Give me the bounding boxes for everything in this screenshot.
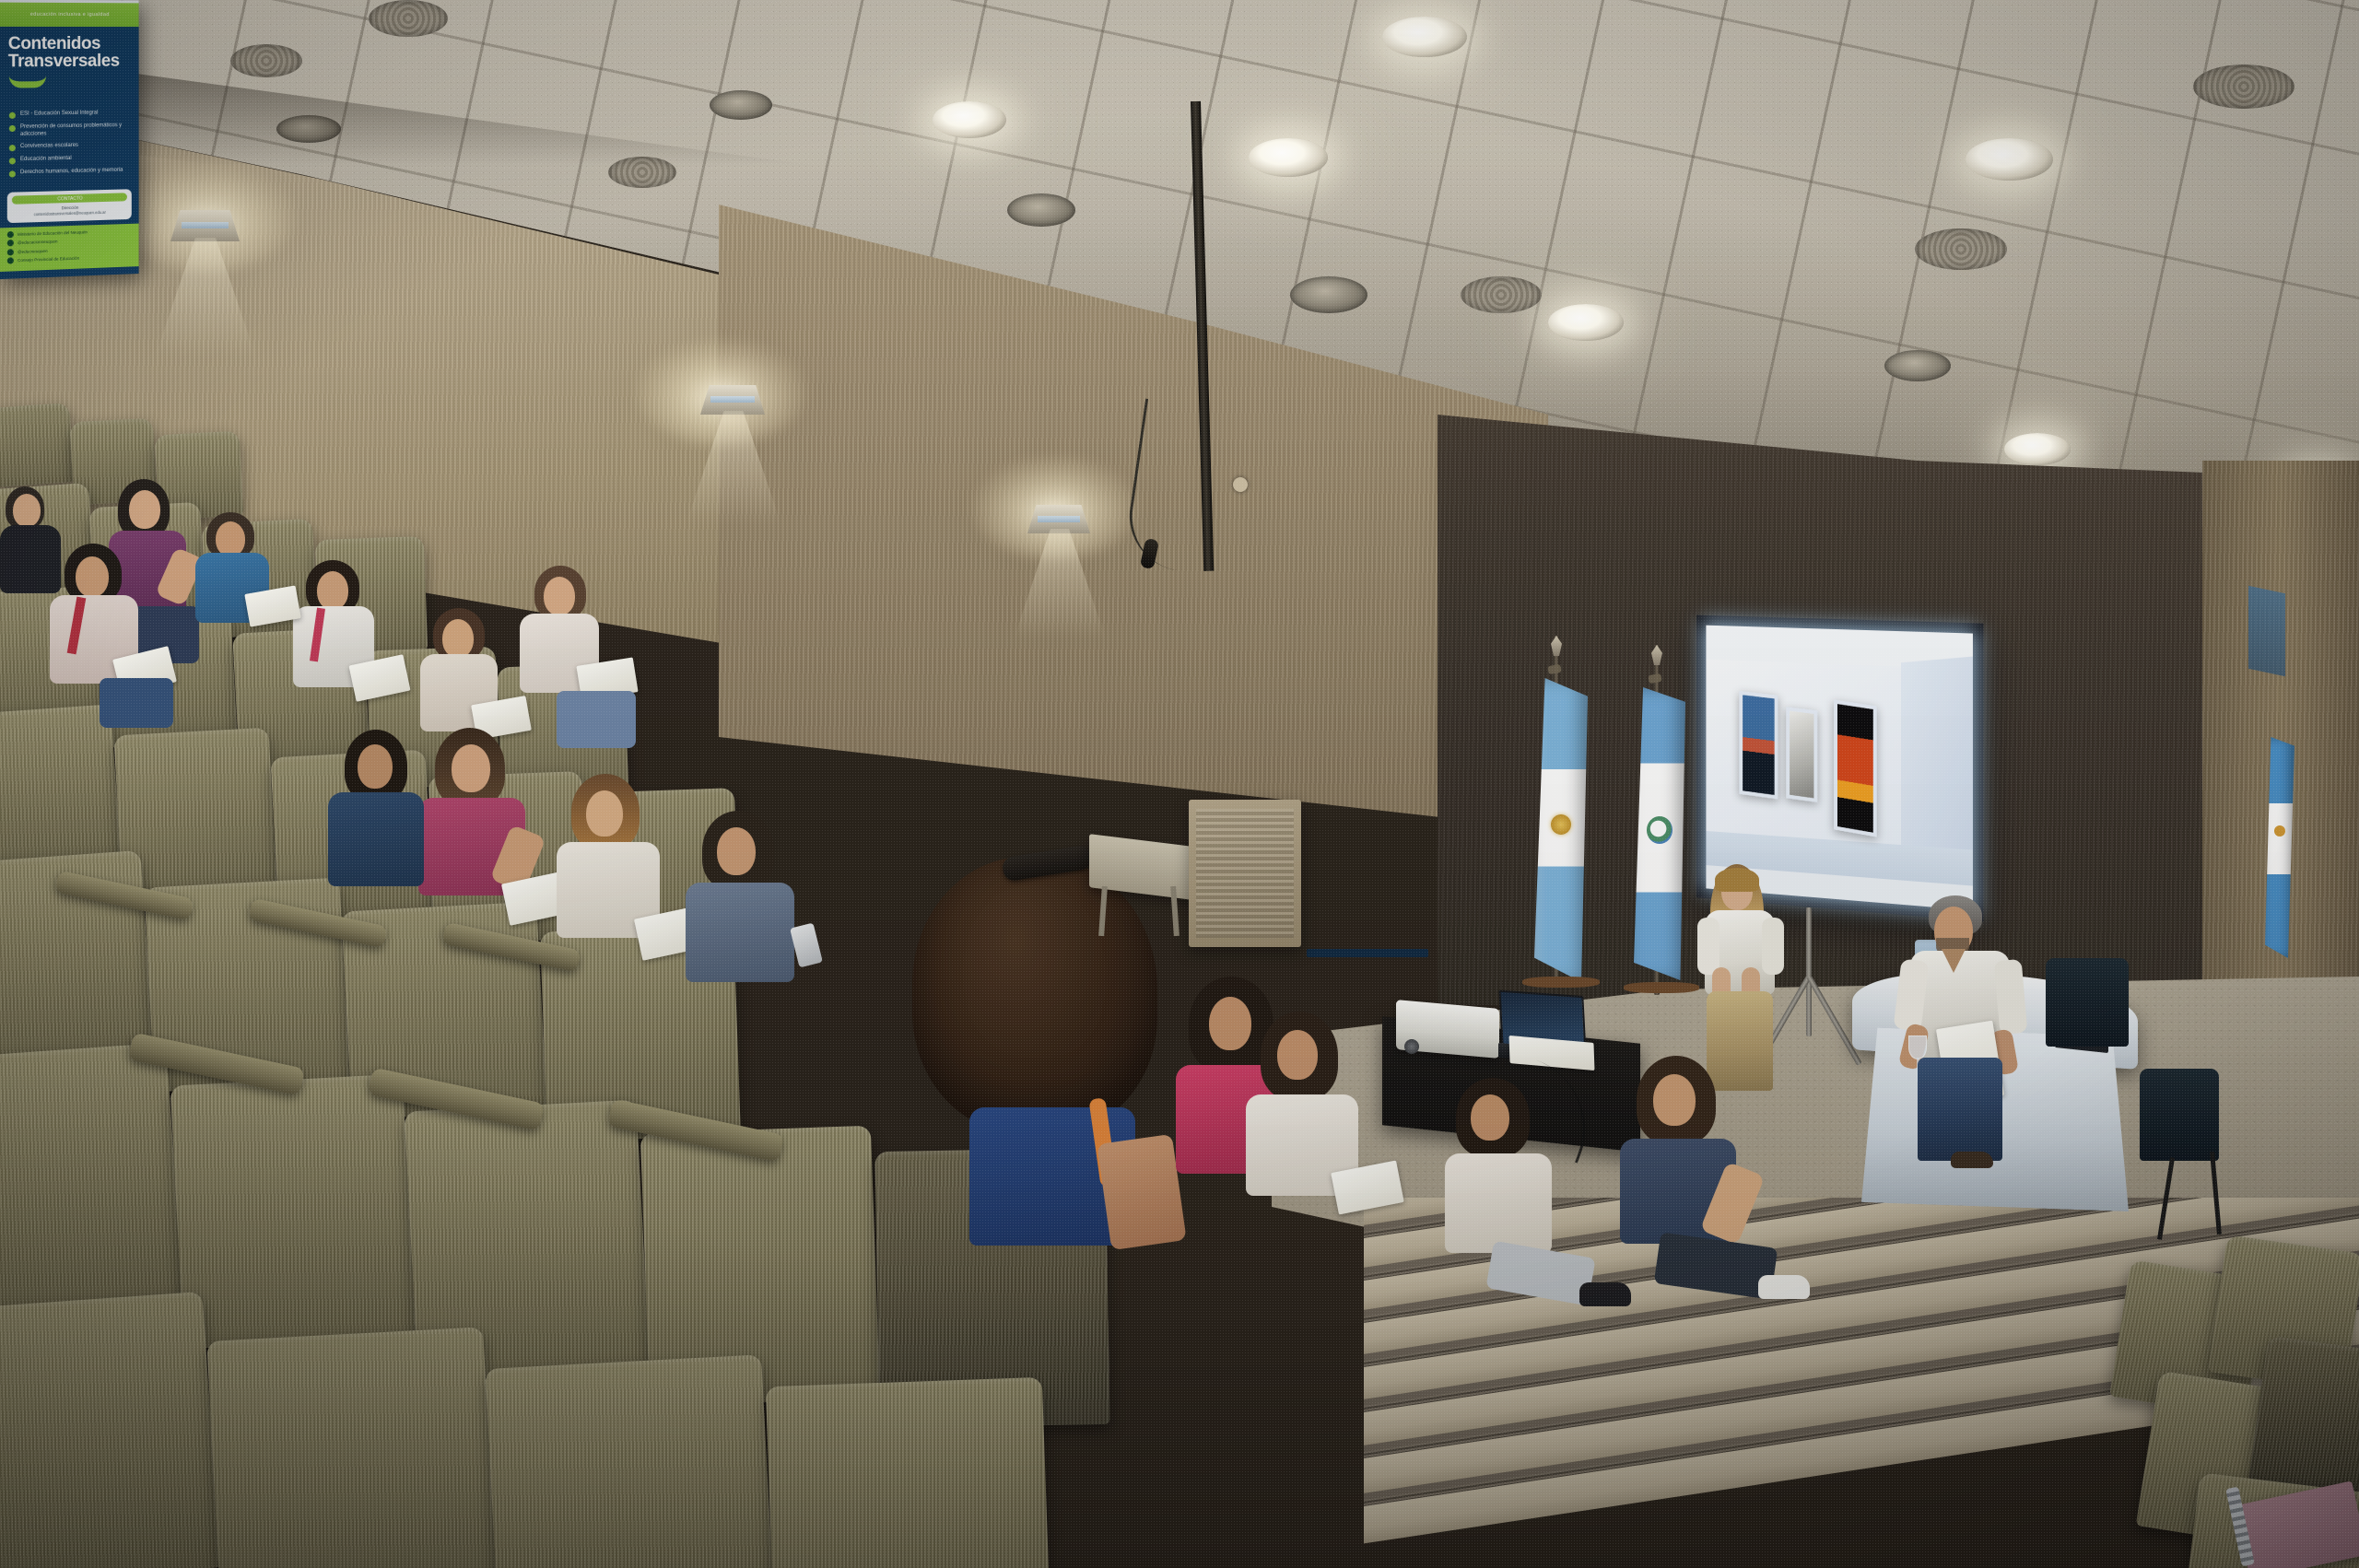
bullet-dot-icon [9,145,16,151]
office-chair-secondary [2140,1069,2219,1161]
auditorium-seat [0,704,122,872]
attendee-head [544,577,575,615]
ceiling-downlight [1249,138,1328,177]
attendee [553,774,700,1004]
ceiling-downlight-off [1007,193,1075,227]
attendee [1620,1056,1795,1305]
auditorium-seat [766,1377,1051,1568]
auditorium-seat [485,1354,775,1568]
cable-clip [1233,477,1248,492]
social-icon [7,257,14,263]
attendee-head [1471,1094,1509,1141]
auditorium-seat [206,1327,497,1568]
banner-bullet-item: Educación ambiental [9,155,131,165]
social-icon [7,249,14,255]
bullet-dot-icon [9,112,16,119]
ceiling-air-vent [2193,64,2294,109]
banner-social-text: @educneuquen [18,248,48,253]
banner-social-item: Consejo Provincial de Educación [7,253,132,264]
attendee-phone[interactable] [790,923,823,968]
auditorium-seat [170,1074,417,1350]
attendee-top [686,883,794,982]
attendee-head [442,619,474,658]
presenter-arm-right [1762,918,1784,975]
banner-bullet-item: Convivencias escolares [9,142,131,152]
attendee-hair-curly [912,857,1157,1133]
banner-header-text: educación inclusiva e igualdad [30,12,110,18]
argentina-sun-icon [1551,814,1571,835]
attendee-top [328,792,424,886]
flag-pole-base [1522,977,1600,988]
attendee-top [1445,1153,1552,1253]
attendee-head [358,744,393,789]
banner-social-text: Ministerio de Educación del Neuquén [18,229,88,237]
banner-bullet-item: Prevención de consumos problemáticos y a… [9,123,131,138]
slide-photo-landscape [1739,691,1778,800]
attendee [192,512,302,660]
attendee-shoe [1758,1275,1810,1299]
attendee-head [452,744,490,792]
auditorium-seat-right-block [2248,1336,2359,1503]
ceiling-downlight-off [710,90,772,120]
social-icon [7,240,14,246]
ceiling-downlight [1548,304,1624,341]
attendee-shoe [1579,1282,1631,1306]
banner-bullet-text: ESI - Educación Sexual Integral [20,111,98,119]
auditorium-seat [0,1043,183,1316]
bullet-dot-icon [9,171,16,178]
ceiling-downlight [933,101,1006,138]
ceiling-downlight [1966,138,2053,181]
auditorium-seat [0,1292,221,1568]
banner-social-text: @educacionneuquen [18,239,58,245]
social-icon [7,231,14,238]
banner-swoosh-icon [9,76,46,88]
banner-social-list: Ministerio de Educación del Neuquén @edu… [0,223,139,271]
banner-bullet-item: Derechos humanos, educación y memoria [9,168,131,178]
bullet-dot-icon [9,158,16,164]
attendee-head [76,556,109,597]
attendee-head [1277,1030,1318,1080]
wall-cabinet-panel [1196,809,1294,938]
ceiling-downlight-off [1290,276,1367,313]
attendee-head [129,490,160,529]
ceiling-air-vent [369,0,448,37]
attendee-foreground-curly [894,848,1198,1244]
banner-bullet-text: Prevención de consumos problemáticos y a… [20,123,131,138]
attendee-leg [100,678,173,728]
banner-bullet-item: ESI - Educación Sexual Integral [9,110,131,119]
ceiling-downlight [1382,17,1467,57]
office-chair [2046,958,2129,1047]
attendee [682,811,839,1041]
banner-social-text: Consejo Provincial de Educación [18,256,79,263]
man-presenter [1894,895,2032,1163]
presenter-arm-left [1697,918,1719,975]
attendee [1445,1078,1611,1308]
ceiling-air-vent [230,44,302,77]
presenter-hair-front [1715,868,1759,892]
presenter-jeans [1918,1058,2002,1161]
attendee [293,560,413,735]
auditorium-scene: educación inclusiva e igualdad Contenido… [0,0,2359,1568]
banner-contact-card: CONTACTO Dirección contenidostransversal… [7,189,132,222]
banner-bullet-text: Convivencias escolares [20,143,78,151]
rollup-banner: educación inclusiva e igualdad Contenido… [0,0,139,279]
attendee [44,544,173,728]
banner-contact-pill: CONTACTO [12,193,127,205]
banner-header-strip: educación inclusiva e igualdad [0,3,139,27]
ceiling-air-vent [1915,228,2007,270]
right-wall-flag-sun-icon [2274,825,2285,837]
wine-glass [1908,1036,1927,1059]
attendee-head [317,571,348,610]
wall-light-strip [2248,586,2285,677]
banner-bullet-list: ESI - Educación Sexual Integral Prevenci… [0,101,139,178]
banner-title: Contenidos Transversales [0,27,139,73]
neuquen-emblem-icon [1647,816,1672,844]
banner-title-line2: Transversales [8,53,131,70]
ceiling-downlight [2004,433,2071,465]
presenter-arm-right [1994,959,2028,1035]
screen-tripod-leg [1806,907,1812,1036]
attendee-head [1653,1074,1696,1126]
attendee-head [216,521,245,556]
presenter-shoe [1951,1152,1993,1168]
projector-lens-icon [1404,1039,1419,1054]
attendee-head [586,790,623,837]
attendee [1246,1012,1402,1242]
ceiling-downlight-off [1884,350,1951,381]
attendee [328,730,448,932]
auditorium-seat [0,403,75,487]
banner-base [1307,949,1428,957]
banner-bullet-text: Derechos humanos, educación y memoria [20,168,123,178]
slide-photo-wildfire [1834,700,1877,837]
attendee-head [717,827,756,875]
wall-sconce [700,385,765,415]
attendee-head [13,494,41,527]
wall-sconce [170,210,240,241]
bullet-dot-icon [9,125,16,132]
ceiling-air-vent [1461,276,1542,313]
slide-photo-figure [1786,707,1817,802]
banner-bullet-text: Educación ambiental [20,156,72,164]
